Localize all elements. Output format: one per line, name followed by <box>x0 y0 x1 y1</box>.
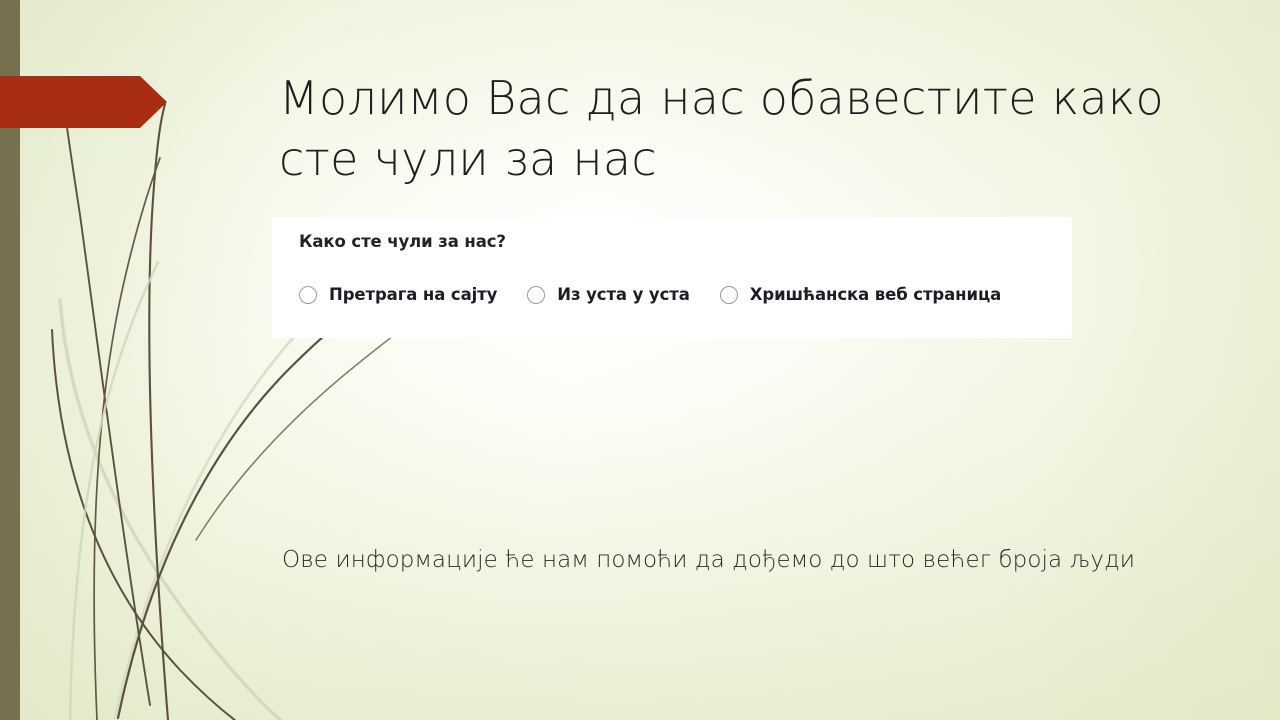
radio-option-label: Хришћанска веб страница <box>750 285 1001 304</box>
radio-circle-icon[interactable] <box>527 286 545 304</box>
survey-form-card: Како сте чули за нас? Претрага на сајту … <box>272 217 1072 338</box>
survey-question-label: Како сте чули за нас? <box>299 232 506 251</box>
page-title: Молимо Вас да нас обавестите како сте чу… <box>279 68 1209 189</box>
arrow-banner-accent <box>0 76 167 128</box>
radio-option-site-search[interactable]: Претрага на сајту <box>299 285 497 304</box>
radio-option-group: Претрага на сајту Из уста у уста Хришћан… <box>299 285 1001 304</box>
radio-option-christian-website[interactable]: Хришћанска веб страница <box>720 285 1001 304</box>
radio-option-label: Из уста у уста <box>557 285 689 304</box>
radio-option-label: Претрага на сајту <box>329 285 497 304</box>
left-olive-bar <box>0 0 20 720</box>
radio-circle-icon[interactable] <box>299 286 317 304</box>
slide-canvas: Молимо Вас да нас обавестите како сте чу… <box>0 0 1280 720</box>
slide-caption: Ове информације ће нам помоћи да дођемо … <box>282 546 1182 575</box>
radio-circle-icon[interactable] <box>720 286 738 304</box>
radio-option-word-of-mouth[interactable]: Из уста у уста <box>527 285 689 304</box>
